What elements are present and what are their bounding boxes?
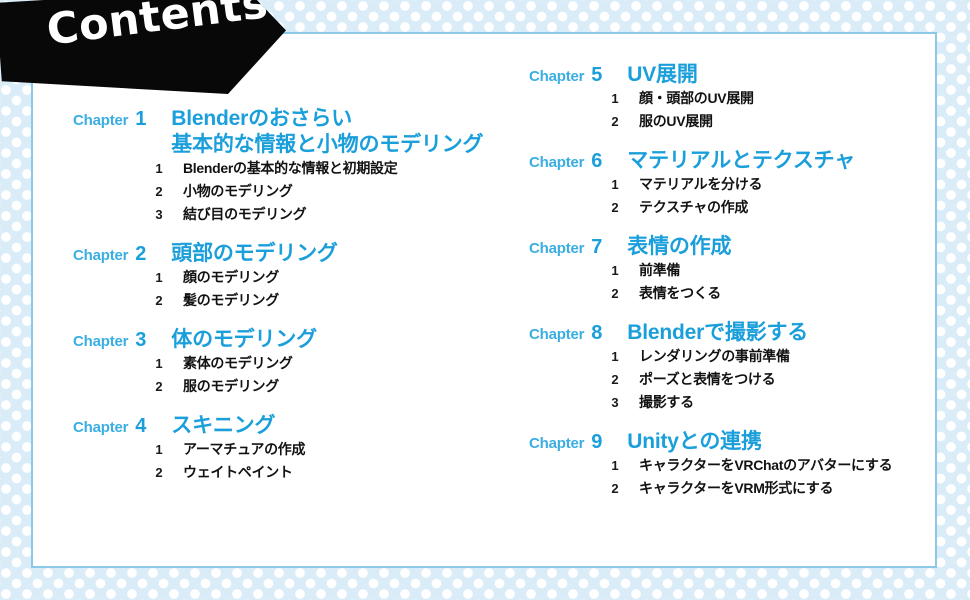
section-number: 2 — [605, 287, 625, 300]
chapter-word-label: Chapter — [529, 435, 584, 452]
chapter-entry[interactable]: Chapter3体のモデリング1素体のモデリング2服のモデリング — [73, 327, 491, 393]
chapter-number: 6 — [591, 150, 607, 173]
contents-banner-title: Contents — [44, 0, 271, 56]
section-entry[interactable]: 3結び目のモデリング — [73, 207, 491, 221]
chapter-number: 9 — [591, 431, 607, 454]
section-label: マテリアルを分ける — [639, 177, 762, 191]
section-entry[interactable]: 2服のモデリング — [73, 379, 491, 393]
chapter-title-line: UV展開 — [627, 62, 697, 88]
chapter-heading: Chapter4スキニング — [73, 413, 491, 439]
chapter-title-group: UV展開 — [627, 62, 697, 88]
section-entry[interactable]: 1素体のモデリング — [73, 356, 491, 370]
section-list: 1レンダリングの事前準備2ポーズと表情をつける3撮影する — [529, 349, 939, 409]
section-number: 1 — [605, 178, 625, 191]
section-number: 1 — [605, 264, 625, 277]
chapter-word-label: Chapter — [529, 240, 584, 257]
section-entry[interactable]: 1アーマチュアの作成 — [73, 442, 491, 456]
section-list: 1素体のモデリング2服のモデリング — [73, 356, 491, 393]
section-entry[interactable]: 2テクスチャの作成 — [529, 200, 939, 214]
chapter-title-group: スキニング — [171, 413, 275, 439]
chapter-heading: Chapter2頭部のモデリング — [73, 241, 491, 267]
chapter-entry[interactable]: Chapter2頭部のモデリング1顔のモデリング2髪のモデリング — [73, 241, 491, 307]
section-label: 小物のモデリング — [183, 184, 293, 198]
section-label: キャラクターをVRChatのアバターにする — [639, 458, 892, 472]
section-entry[interactable]: 1マテリアルを分ける — [529, 177, 939, 191]
section-number: 1 — [149, 162, 169, 175]
section-label: 服のUV展開 — [639, 114, 713, 128]
section-label: 顔・頭部のUV展開 — [639, 91, 754, 105]
section-list: 1マテリアルを分ける2テクスチャの作成 — [529, 177, 939, 214]
contents-column-left: Chapter1Blenderのおさらい基本的な情報と小物のモデリング1Blen… — [33, 34, 491, 570]
section-entry[interactable]: 2髪のモデリング — [73, 293, 491, 307]
chapter-heading: Chapter8Blenderで撮影する — [529, 320, 939, 346]
section-label: 結び目のモデリング — [183, 207, 306, 221]
chapter-title-group: Blenderで撮影する — [627, 320, 808, 346]
section-list: 1キャラクターをVRChatのアバターにする2キャラクターをVRM形式にする — [529, 458, 939, 495]
section-number: 3 — [605, 396, 625, 409]
chapter-number: 8 — [591, 322, 607, 345]
section-label: アーマチュアの作成 — [183, 442, 305, 456]
chapter-title-group: 体のモデリング — [171, 327, 317, 353]
section-label: キャラクターをVRM形式にする — [639, 481, 833, 495]
chapter-word-label: Chapter — [73, 333, 128, 350]
chapter-title-group: 表情の作成 — [627, 234, 731, 260]
section-entry[interactable]: 1前準備 — [529, 263, 939, 277]
section-entry[interactable]: 1顔・頭部のUV展開 — [529, 91, 939, 105]
chapter-word-label: Chapter — [73, 247, 128, 264]
section-number: 2 — [149, 380, 169, 393]
section-list: 1Blenderの基本的な情報と初期設定2小物のモデリング3結び目のモデリング — [73, 161, 491, 221]
section-number: 1 — [605, 459, 625, 472]
section-label: 素体のモデリング — [183, 356, 293, 370]
section-entry[interactable]: 3撮影する — [529, 395, 939, 409]
chapter-number: 3 — [135, 329, 151, 352]
section-list: 1アーマチュアの作成2ウェイトペイント — [73, 442, 491, 479]
chapter-entry[interactable]: Chapter4スキニング1アーマチュアの作成2ウェイトペイント — [73, 413, 491, 479]
chapter-title-line: 基本的な情報と小物のモデリング — [171, 132, 483, 158]
section-entry[interactable]: 1レンダリングの事前準備 — [529, 349, 939, 363]
section-label: ポーズと表情をつける — [639, 372, 775, 386]
section-entry[interactable]: 2服のUV展開 — [529, 114, 939, 128]
chapter-title-group: マテリアルとテクスチャ — [627, 148, 855, 174]
chapter-heading: Chapter9Unityとの連携 — [529, 429, 939, 455]
chapter-title-line: Unityとの連携 — [627, 429, 762, 455]
section-number: 2 — [149, 466, 169, 479]
chapter-title-line: 頭部のモデリング — [171, 241, 337, 267]
chapter-word-label: Chapter — [529, 68, 584, 85]
contents-columns: Chapter1Blenderのおさらい基本的な情報と小物のモデリング1Blen… — [33, 34, 939, 570]
chapter-entry[interactable]: Chapter1Blenderのおさらい基本的な情報と小物のモデリング1Blen… — [73, 106, 491, 221]
section-list: 1顔のモデリング2髪のモデリング — [73, 270, 491, 307]
section-number: 2 — [149, 294, 169, 307]
section-label: 顔のモデリング — [183, 270, 279, 284]
section-number: 2 — [149, 185, 169, 198]
section-label: 服のモデリング — [183, 379, 279, 393]
section-label: テクスチャの作成 — [639, 200, 748, 214]
chapter-number: 4 — [135, 415, 151, 438]
chapter-heading: Chapter5UV展開 — [529, 62, 939, 88]
section-entry[interactable]: 1Blenderの基本的な情報と初期設定 — [73, 161, 491, 175]
section-label: Blenderの基本的な情報と初期設定 — [183, 161, 397, 175]
chapter-heading: Chapter7表情の作成 — [529, 234, 939, 260]
contents-column-right: Chapter5UV展開1顔・頭部のUV展開2服のUV展開Chapter6マテリ… — [491, 34, 939, 570]
section-number: 3 — [149, 208, 169, 221]
section-label: ウェイトペイント — [183, 465, 293, 479]
section-number: 1 — [149, 357, 169, 370]
chapter-number: 2 — [135, 243, 151, 266]
contents-panel: Chapter1Blenderのおさらい基本的な情報と小物のモデリング1Blen… — [31, 32, 937, 568]
chapter-entry[interactable]: Chapter9Unityとの連携1キャラクターをVRChatのアバターにする2… — [529, 429, 939, 495]
chapter-title-line: 体のモデリング — [171, 327, 317, 353]
section-number: 2 — [605, 482, 625, 495]
chapter-word-label: Chapter — [529, 154, 584, 171]
section-entry[interactable]: 1キャラクターをVRChatのアバターにする — [529, 458, 939, 472]
chapter-number: 5 — [591, 64, 607, 87]
chapter-heading: Chapter3体のモデリング — [73, 327, 491, 353]
section-entry[interactable]: 2表情をつくる — [529, 286, 939, 300]
chapter-title-line: Blenderで撮影する — [627, 320, 808, 346]
chapter-heading: Chapter6マテリアルとテクスチャ — [529, 148, 939, 174]
chapter-heading: Chapter1Blenderのおさらい基本的な情報と小物のモデリング — [73, 106, 491, 158]
section-number: 2 — [605, 201, 625, 214]
chapter-number: 1 — [135, 108, 151, 131]
chapter-word-label: Chapter — [73, 112, 128, 129]
chapter-title-line: スキニング — [171, 413, 275, 439]
section-label: レンダリングの事前準備 — [639, 349, 790, 363]
chapter-entry[interactable]: Chapter5UV展開1顔・頭部のUV展開2服のUV展開 — [529, 62, 939, 128]
section-number: 1 — [149, 443, 169, 456]
chapter-title-group: Unityとの連携 — [627, 429, 762, 455]
section-list: 1前準備2表情をつくる — [529, 263, 939, 300]
section-label: 撮影する — [639, 395, 694, 409]
section-entry[interactable]: 2ポーズと表情をつける — [529, 372, 939, 386]
section-entry[interactable]: 2ウェイトペイント — [73, 465, 491, 479]
chapter-title-group: 頭部のモデリング — [171, 241, 337, 267]
section-number: 2 — [605, 115, 625, 128]
chapter-title-line: マテリアルとテクスチャ — [627, 148, 855, 174]
chapter-entry[interactable]: Chapter6マテリアルとテクスチャ1マテリアルを分ける2テクスチャの作成 — [529, 148, 939, 214]
chapter-title-line: Blenderのおさらい — [171, 106, 483, 132]
chapter-title-group: Blenderのおさらい基本的な情報と小物のモデリング — [171, 106, 483, 158]
chapter-entry[interactable]: Chapter7表情の作成1前準備2表情をつくる — [529, 234, 939, 300]
section-entry[interactable]: 2キャラクターをVRM形式にする — [529, 481, 939, 495]
section-number: 1 — [605, 92, 625, 105]
section-number: 1 — [605, 350, 625, 363]
chapter-word-label: Chapter — [529, 326, 584, 343]
section-list: 1顔・頭部のUV展開2服のUV展開 — [529, 91, 939, 128]
section-label: 前準備 — [639, 263, 680, 277]
section-number: 1 — [149, 271, 169, 284]
section-label: 表情をつくる — [639, 286, 721, 300]
section-entry[interactable]: 1顔のモデリング — [73, 270, 491, 284]
chapter-entry[interactable]: Chapter8Blenderで撮影する1レンダリングの事前準備2ポーズと表情を… — [529, 320, 939, 409]
chapter-word-label: Chapter — [73, 419, 128, 436]
section-label: 髪のモデリング — [183, 293, 279, 307]
section-entry[interactable]: 2小物のモデリング — [73, 184, 491, 198]
chapter-title-line: 表情の作成 — [627, 234, 731, 260]
chapter-number: 7 — [591, 236, 607, 259]
toc-page: Chapter1Blenderのおさらい基本的な情報と小物のモデリング1Blen… — [0, 0, 970, 600]
section-number: 2 — [605, 373, 625, 386]
